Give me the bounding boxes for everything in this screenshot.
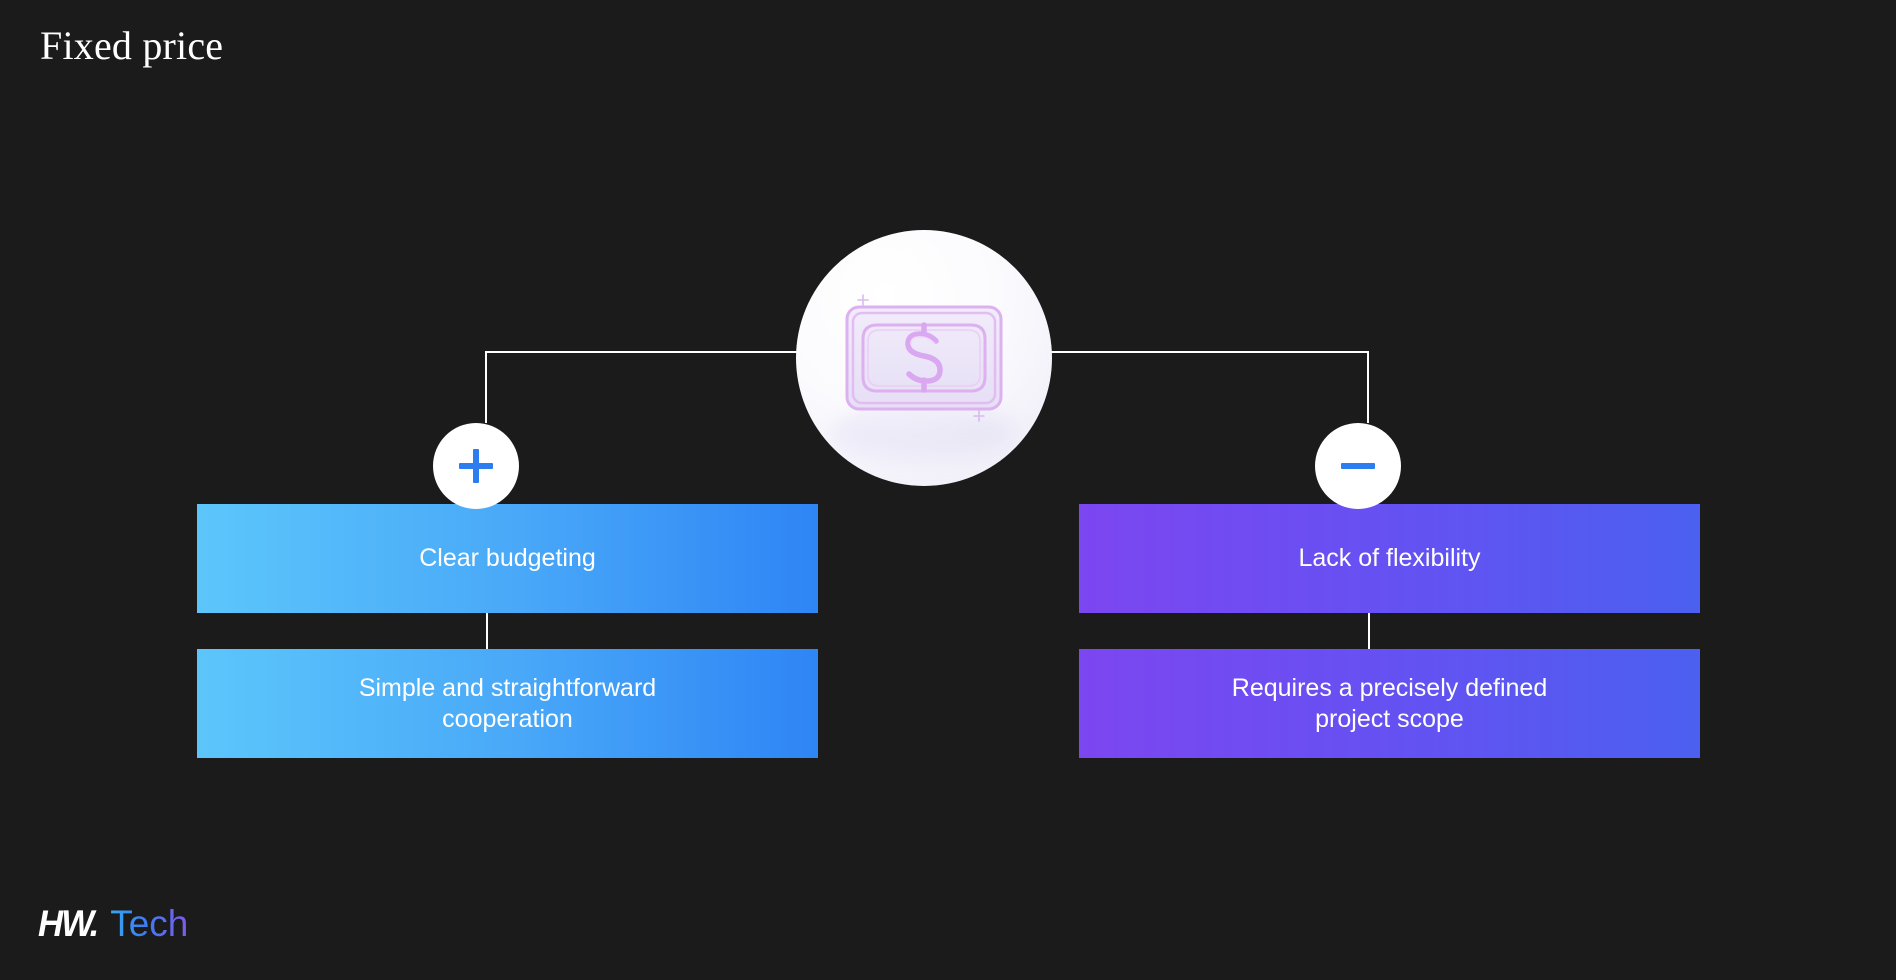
banknote-dollar-icon [839, 293, 1009, 423]
hero-illustration-circle [796, 230, 1052, 486]
connector-vertical-right [1367, 351, 1369, 423]
connector-stub-right [1368, 612, 1370, 650]
pros-item-2-label: Simple and straightforward cooperation [359, 673, 656, 734]
plus-icon [459, 449, 493, 483]
pros-item-1[interactable]: Clear budgeting [197, 504, 818, 613]
pros-item-1-label: Clear budgeting [419, 543, 596, 574]
pros-item-2[interactable]: Simple and straightforward cooperation [197, 649, 818, 758]
pros-badge[interactable] [433, 423, 519, 509]
brand-logo[interactable]: HW. Tech [38, 905, 188, 942]
minus-icon [1341, 449, 1375, 483]
cons-item-1-label: Lack of flexibility [1298, 543, 1480, 574]
page-title: Fixed price [40, 22, 223, 69]
slide-root: Fixed price [0, 0, 1896, 980]
cons-item-2-line2: project scope [1232, 704, 1547, 735]
brand-logo-mark: HW. [38, 905, 97, 942]
cons-badge[interactable] [1315, 423, 1401, 509]
connector-vertical-left [485, 351, 487, 423]
pros-item-2-line2: cooperation [359, 704, 656, 735]
cons-item-2-line1: Requires a precisely defined [1232, 673, 1547, 704]
connector-stub-left [486, 612, 488, 650]
pros-item-2-line1: Simple and straightforward [359, 673, 656, 704]
cons-item-2-label: Requires a precisely defined project sco… [1232, 673, 1547, 734]
cons-item-1[interactable]: Lack of flexibility [1079, 504, 1700, 613]
brand-logo-word: Tech [110, 905, 188, 942]
cons-item-2[interactable]: Requires a precisely defined project sco… [1079, 649, 1700, 758]
